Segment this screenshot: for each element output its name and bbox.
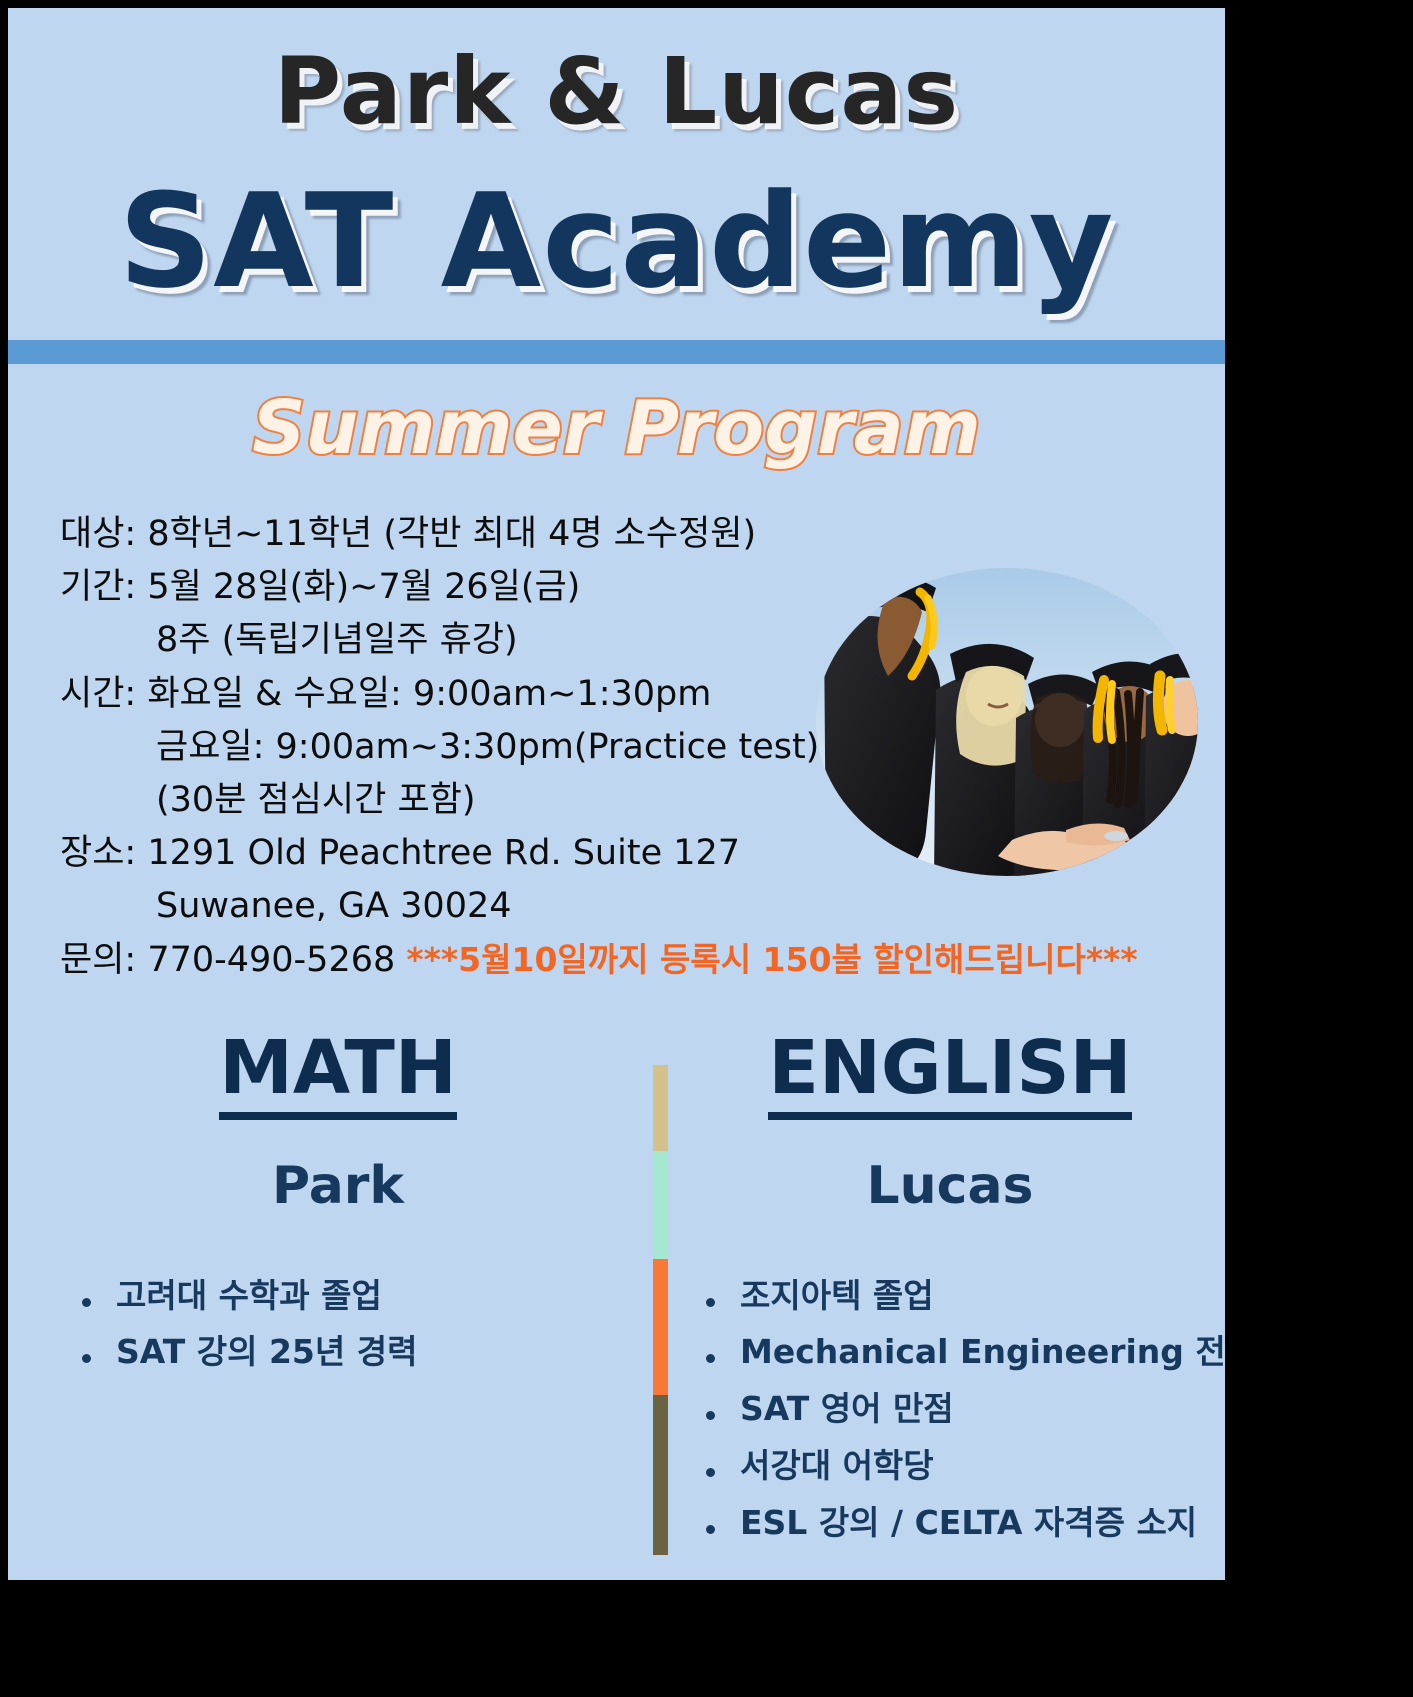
english-heading: ENGLISH bbox=[680, 1030, 1220, 1120]
list-item: 고려대 수학과 졸업 bbox=[116, 1268, 638, 1325]
subject-column-english: ENGLISH Lucas 조지아텍 졸업 Mechanical Enginee… bbox=[680, 1030, 1220, 1551]
subject-column-math: MATH Park 고려대 수학과 졸업 SAT 강의 25년 경력 bbox=[38, 1030, 638, 1381]
info-time: 시간: 화요일 & 수요일: 9:00am~1:30pm bbox=[60, 668, 1210, 721]
math-heading: MATH bbox=[38, 1030, 638, 1120]
program-info-block: 대상: 8학년~11학년 (각반 최대 4명 소수정원) 기간: 5월 28일(… bbox=[60, 508, 1210, 987]
page-subtitle: Summer Program bbox=[8, 390, 1225, 468]
info-place: 장소: 1291 Old Peachtree Rd. Suite 127 bbox=[60, 827, 1210, 880]
info-contact-row: 문의: 770-490-5268 ***5월10일까지 등록시 150불 할인해… bbox=[60, 934, 1210, 987]
info-period: 기간: 5월 28일(화)~7월 26일(금) bbox=[60, 561, 1210, 614]
list-item: SAT 영어 만점 bbox=[740, 1381, 1220, 1438]
poster-root: Park & Lucas SAT Academy Summer Program bbox=[0, 0, 1413, 1697]
math-teacher-name: Park bbox=[38, 1156, 638, 1216]
info-time-2: 금요일: 9:00am~3:30pm(Practice test) bbox=[60, 721, 1210, 774]
page-title-main: SAT Academy bbox=[8, 176, 1225, 306]
promo-discount-note: ***5월10일까지 등록시 150불 할인해드립니다*** bbox=[406, 940, 1137, 979]
divider-segment-2 bbox=[653, 1151, 668, 1259]
list-item: ESL 강의 / CELTA 자격증 소지 bbox=[740, 1495, 1220, 1552]
divider-segment-3 bbox=[653, 1259, 668, 1395]
info-time-3: (30분 점심시간 포함) bbox=[60, 774, 1210, 827]
list-item: Mechanical Engineering 전공 bbox=[740, 1324, 1220, 1381]
info-contact-phone: 문의: 770-490-5268 bbox=[60, 940, 395, 980]
flyer-canvas: Park & Lucas SAT Academy Summer Program bbox=[8, 8, 1225, 1580]
header-divider-rule bbox=[8, 340, 1225, 364]
info-place-2: Suwanee, GA 30024 bbox=[60, 880, 1210, 933]
page-title-top: Park & Lucas bbox=[8, 46, 1225, 138]
english-heading-label: ENGLISH bbox=[768, 1030, 1131, 1120]
english-credentials-list: 조지아텍 졸업 Mechanical Engineering 전공 SAT 영어… bbox=[680, 1268, 1220, 1552]
math-credentials-list: 고려대 수학과 졸업 SAT 강의 25년 경력 bbox=[38, 1268, 638, 1382]
divider-segment-4 bbox=[653, 1395, 668, 1555]
info-audience: 대상: 8학년~11학년 (각반 최대 4명 소수정원) bbox=[60, 508, 1210, 561]
list-item: SAT 강의 25년 경력 bbox=[116, 1324, 638, 1381]
divider-segment-1 bbox=[653, 1065, 668, 1151]
column-divider-bar bbox=[653, 1065, 668, 1555]
info-period-2: 8주 (독립기념일주 휴강) bbox=[60, 614, 1210, 667]
list-item: 서강대 어학당 bbox=[740, 1438, 1220, 1495]
math-heading-label: MATH bbox=[219, 1030, 457, 1120]
english-teacher-name: Lucas bbox=[680, 1156, 1220, 1216]
list-item: 조지아텍 졸업 bbox=[740, 1268, 1220, 1325]
